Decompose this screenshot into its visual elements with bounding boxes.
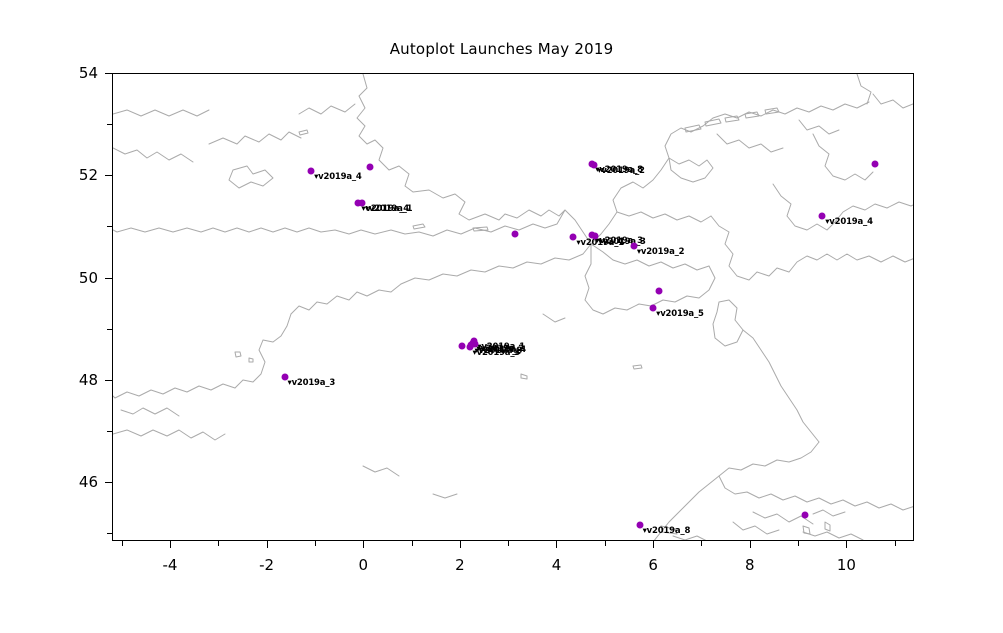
y-tick-major [105, 278, 112, 279]
x-tick-minor [508, 541, 509, 546]
data-point[interactable] [802, 511, 809, 518]
x-tick-label: 0 [358, 556, 368, 574]
figure-canvas: Autoplot Launches May 2019 [0, 0, 1003, 633]
y-tick-major [105, 175, 112, 176]
y-tick-minor [107, 533, 112, 534]
x-tick-major [267, 541, 268, 548]
data-point[interactable] [367, 164, 374, 171]
scatter-layer: ▾v2019a_4▾v2019a_4▾v2019a_1▾v2019a_8▾v20… [113, 74, 914, 541]
x-tick-minor [412, 541, 413, 546]
x-tick-minor [605, 541, 606, 546]
data-point-label: ▾v2019a_8 [643, 526, 691, 536]
x-tick-major [846, 541, 847, 548]
x-tick-minor [798, 541, 799, 546]
x-tick-minor [315, 541, 316, 546]
y-tick-label: 54 [54, 64, 98, 82]
x-tick-minor [122, 541, 123, 546]
chart-title: Autoplot Launches May 2019 [0, 40, 1003, 58]
data-point[interactable] [655, 288, 662, 295]
y-tick-label: 48 [54, 371, 98, 389]
y-tick-minor [107, 329, 112, 330]
data-point[interactable] [458, 343, 465, 350]
y-tick-major [105, 482, 112, 483]
x-tick-label: -2 [259, 556, 274, 574]
x-tick-major [750, 541, 751, 548]
data-point-label: ▾v2019a_2 [637, 247, 685, 257]
data-point-label: ▾v2019a_5 [656, 309, 704, 319]
y-tick-label: 46 [54, 473, 98, 491]
y-tick-label: 50 [54, 269, 98, 287]
y-tick-label: 52 [54, 166, 98, 184]
data-point-label: ▾v2019a_1 [365, 204, 413, 214]
x-tick-label: 8 [745, 556, 755, 574]
y-tick-minor [107, 431, 112, 432]
x-tick-major [460, 541, 461, 548]
x-tick-label: 10 [837, 556, 856, 574]
data-point-label: ▾v2019a_4 [314, 172, 362, 182]
x-tick-label: 6 [648, 556, 658, 574]
x-tick-minor [218, 541, 219, 546]
x-tick-minor [895, 541, 896, 546]
data-point-label: ▾v2019a_4 [825, 217, 873, 227]
y-tick-minor [107, 226, 112, 227]
y-tick-minor [107, 124, 112, 125]
y-tick-major [105, 380, 112, 381]
x-tick-label: 4 [552, 556, 562, 574]
plot-axes[interactable]: ▾v2019a_4▾v2019a_4▾v2019a_1▾v2019a_8▾v20… [112, 73, 914, 541]
data-point-label: ▾v2019a_3 [598, 237, 646, 247]
x-tick-label: -4 [162, 556, 177, 574]
x-tick-minor [701, 541, 702, 546]
data-point[interactable] [872, 160, 879, 167]
data-point-label: ▾v2019a_3 [473, 348, 521, 358]
x-tick-major [363, 541, 364, 548]
x-tick-major [653, 541, 654, 548]
data-point-label: ▾v2019a_3 [288, 378, 336, 388]
x-tick-major [170, 541, 171, 548]
x-tick-major [556, 541, 557, 548]
data-point[interactable] [511, 230, 518, 237]
y-tick-major [105, 73, 112, 74]
x-tick-label: 2 [455, 556, 465, 574]
data-point-label: ▾v2019a_2 [597, 166, 645, 176]
